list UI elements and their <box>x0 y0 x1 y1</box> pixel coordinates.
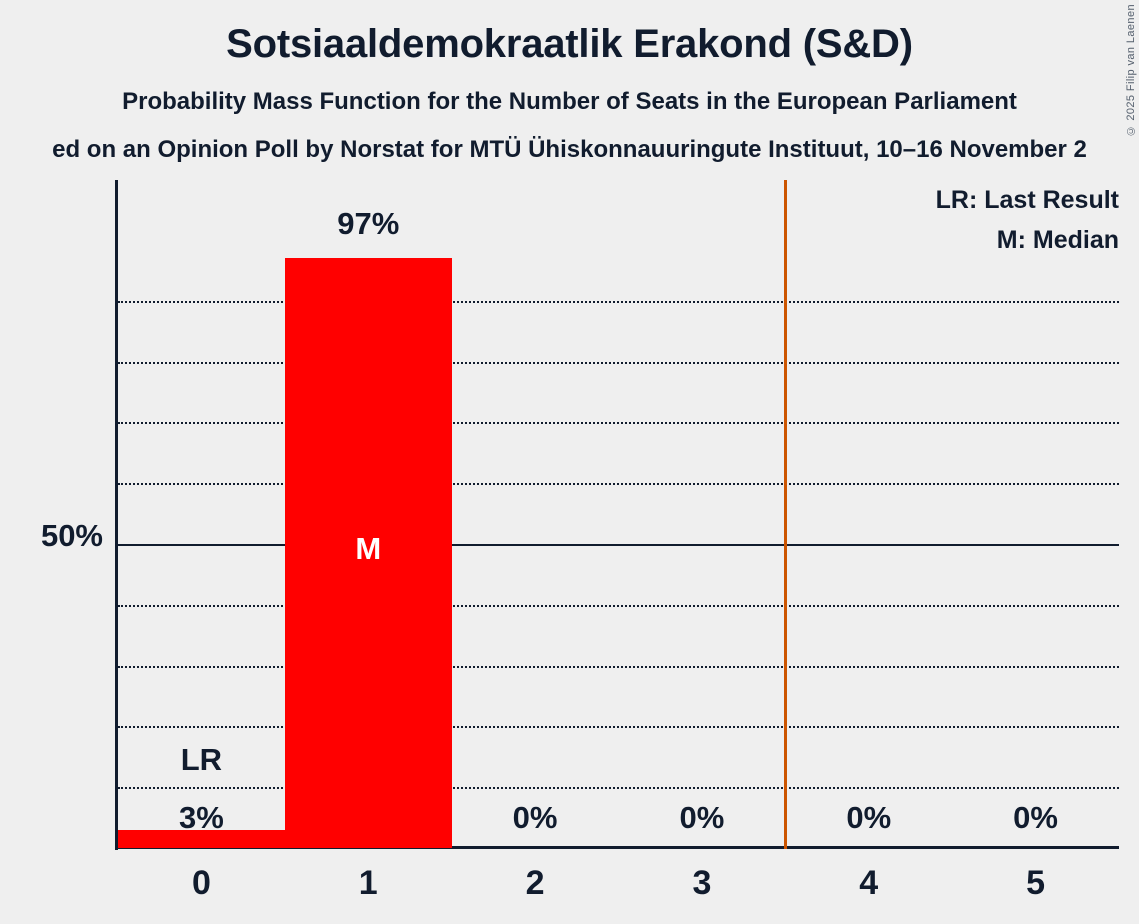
bar-value-label-2: 0% <box>452 800 619 836</box>
gridline-20 <box>118 726 1119 728</box>
x-tick-label-2: 2 <box>452 864 619 903</box>
chart-subtitle: Probability Mass Function for the Number… <box>0 88 1139 116</box>
median-marker: M <box>285 531 452 567</box>
gridline-60 <box>118 483 1119 485</box>
page-title: Sotsiaaldemokraatlik Erakond (S&D) <box>0 22 1139 67</box>
gridline-90 <box>118 301 1119 303</box>
x-tick-label-3: 3 <box>619 864 786 903</box>
bar-value-label-0: 3% <box>118 800 285 836</box>
gridline-30 <box>118 666 1119 668</box>
x-tick-label-1: 1 <box>285 864 452 903</box>
gridline-40 <box>118 605 1119 607</box>
chart-source-line: ed on an Opinion Poll by Norstat for MTÜ… <box>0 136 1139 164</box>
x-tick-label-4: 4 <box>785 864 952 903</box>
gridline-70 <box>118 422 1119 424</box>
gridline-80 <box>118 362 1119 364</box>
bar-value-label-4: 0% <box>785 800 952 836</box>
bar-value-label-3: 0% <box>619 800 786 836</box>
chart-canvas: Sotsiaaldemokraatlik Erakond (S&D) Proba… <box>0 0 1139 924</box>
gridline-50 <box>118 544 1119 546</box>
bar-value-label-1: 97% <box>285 206 452 242</box>
threshold-line <box>784 180 787 849</box>
copyright-notice: © 2025 Filip van Laenen <box>1125 4 1137 137</box>
legend-item-last-result: LR: Last Result <box>936 186 1119 215</box>
legend-item-median: M: Median <box>997 226 1119 255</box>
gridline-10 <box>118 787 1119 789</box>
bar-value-label-5: 0% <box>952 800 1119 836</box>
x-tick-label-0: 0 <box>118 864 285 903</box>
y-tick-label-50: 50% <box>0 518 103 554</box>
x-tick-label-5: 5 <box>952 864 1119 903</box>
last-result-marker: LR <box>118 742 285 778</box>
